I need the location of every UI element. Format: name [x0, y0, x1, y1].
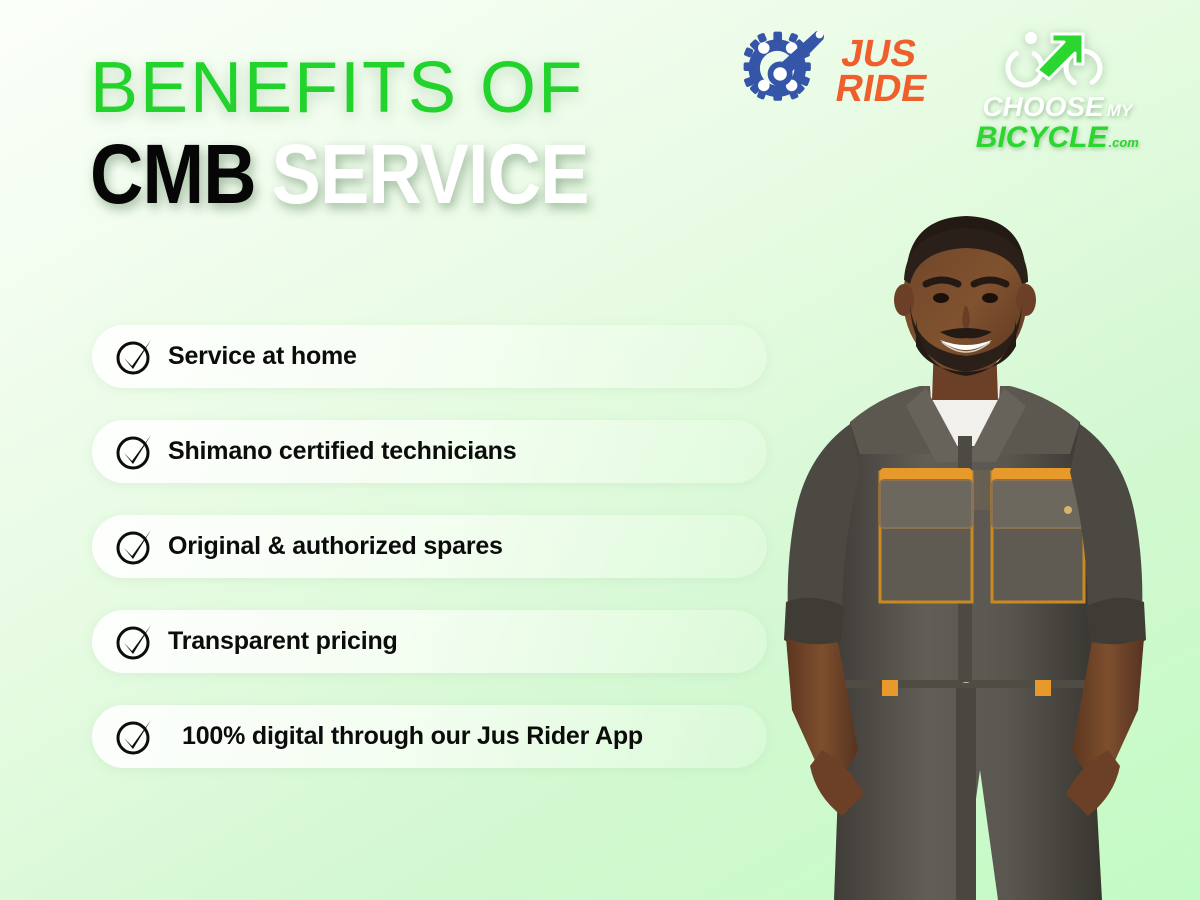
technician-illustration: [730, 210, 1200, 900]
jusride-line-2: RIDE: [833, 72, 930, 107]
benefit-label: Original & authorized spares: [168, 532, 503, 561]
logo-bar: JUS RIDE CHOOSE MY BICYCLE .com: [735, 24, 1139, 155]
headline-brand: CMB: [90, 127, 256, 221]
benefit-label: Service at home: [168, 342, 357, 371]
logo-word-bicycle: BICYCLE: [976, 121, 1108, 155]
choosemybicycle-wordmark-bottom: BICYCLE .com: [976, 121, 1139, 155]
benefit-item[interactable]: Service at home: [92, 325, 767, 388]
check-circle-icon: [114, 717, 154, 757]
headline-word: SERVICE: [272, 127, 589, 221]
benefit-item[interactable]: Transparent pricing: [92, 610, 767, 673]
jusride-logo[interactable]: JUS RIDE: [735, 24, 930, 120]
choosemybicycle-wordmark-top: CHOOSE MY: [982, 91, 1132, 123]
poster-canvas: BENEFITS OF CMBSERVICE: [0, 0, 1200, 900]
check-circle-icon: [114, 337, 154, 377]
jusride-wordmark: JUS RIDE: [833, 37, 936, 107]
chainring-crank-icon: [735, 24, 831, 120]
benefit-label: Shimano certified technicians: [168, 437, 516, 466]
technician-photo: [730, 210, 1200, 900]
logo-word-choose: CHOOSE: [982, 91, 1103, 123]
benefits-list: Service at home Shimano certified techni…: [92, 325, 767, 800]
check-circle-icon: [114, 432, 154, 472]
jusride-line-1: JUS: [839, 37, 936, 72]
headline-line-2: CMBSERVICE: [90, 128, 636, 220]
logo-word-my: MY: [1107, 101, 1133, 121]
benefit-label: 100% digital through our Jus Rider App: [182, 722, 643, 751]
headline-block: BENEFITS OF CMBSERVICE: [90, 50, 710, 220]
benefit-item[interactable]: Original & authorized spares: [92, 515, 767, 578]
benefit-item[interactable]: Shimano certified technicians: [92, 420, 767, 483]
benefit-item[interactable]: 100% digital through our Jus Rider App: [92, 705, 767, 768]
bicycle-arrow-icon: [997, 28, 1117, 90]
check-circle-icon: [114, 527, 154, 567]
benefit-label: Transparent pricing: [168, 627, 398, 656]
logo-word-domain: .com: [1108, 135, 1138, 150]
headline-line-1: BENEFITS OF: [90, 50, 710, 126]
choosemybicycle-logo[interactable]: CHOOSE MY BICYCLE .com: [976, 24, 1139, 155]
check-circle-icon: [114, 622, 154, 662]
